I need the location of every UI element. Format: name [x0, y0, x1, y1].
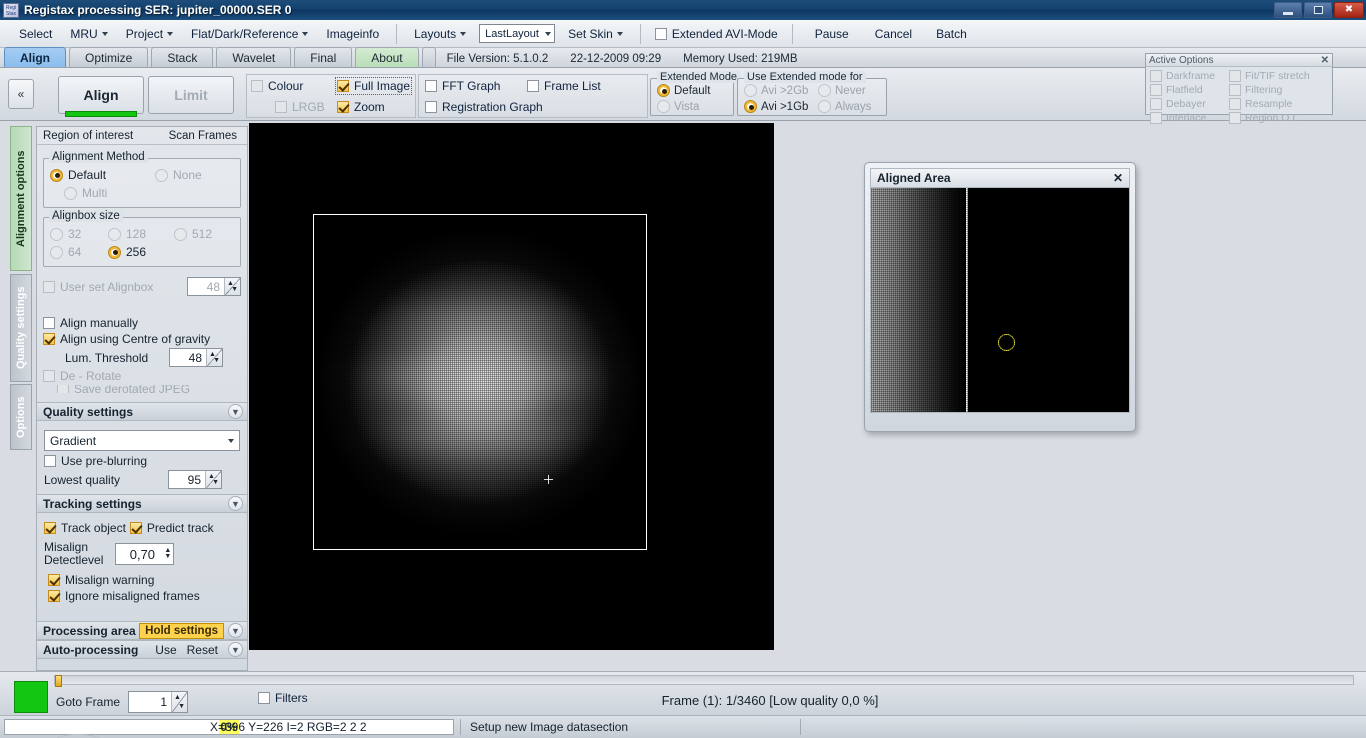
- avi-gt-1gb-radio[interactable]: Avi >1Gb: [744, 100, 808, 113]
- always-radio[interactable]: Always: [818, 100, 871, 113]
- radio-dot: [108, 228, 121, 241]
- tab-about[interactable]: About: [355, 47, 418, 67]
- hold-settings-badge[interactable]: Hold settings: [139, 623, 224, 639]
- checkbox-box: [44, 455, 56, 467]
- checkbox-box: [48, 590, 60, 602]
- misalign-detectlevel-spinner[interactable]: 0,70 ▲▼: [115, 543, 174, 565]
- fft-graph-checkbox[interactable]: FFT Graph: [425, 79, 500, 93]
- align-manually-checkbox[interactable]: Align manually: [43, 316, 241, 330]
- alignment-method-none-radio[interactable]: None: [155, 168, 202, 182]
- misalign-detectlevel-row: Misalign Detectlevel 0,70 ▲▼: [44, 541, 240, 567]
- chevron-down-icon: [167, 32, 173, 36]
- menu-imageinfo[interactable]: Imageinfo: [317, 23, 388, 45]
- date-label: 22-12-2009 09:29: [570, 53, 661, 65]
- misalign-detectlevel-label: Misalign Detectlevel: [44, 541, 103, 567]
- chevron-down-icon: [102, 32, 108, 36]
- menu-set-skin[interactable]: Set Skin: [559, 23, 632, 45]
- centre-of-gravity-marker: [544, 475, 553, 484]
- lowest-quality-spinner[interactable]: 95 ▲▼: [168, 470, 222, 489]
- resample-checkbox[interactable]: Resample: [1229, 98, 1310, 110]
- aligned-area-title: Aligned Area: [877, 171, 951, 185]
- checkbox-box: [251, 80, 263, 92]
- vtab-quality-settings[interactable]: Quality settings: [10, 274, 32, 382]
- goto-frame-row: Goto Frame 1 ▲▼: [56, 691, 188, 713]
- checkbox-box: [1229, 98, 1241, 110]
- batch-button[interactable]: Batch: [924, 23, 979, 45]
- checkbox-box: [1150, 84, 1162, 96]
- ignore-misaligned-frames-checkbox[interactable]: Ignore misaligned frames: [44, 589, 240, 603]
- radio-dot: [108, 246, 121, 259]
- extended-avi-mode-label: Extended AVI-Mode: [672, 27, 778, 41]
- menu-select[interactable]: Select: [10, 23, 61, 45]
- display-options-group: Colour Full Image LRGB Zoom: [246, 74, 416, 118]
- registration-graph-checkbox[interactable]: Registration Graph: [425, 100, 543, 114]
- radio-dot: [818, 100, 831, 113]
- extended-avi-mode-checkbox[interactable]: Extended AVI-Mode: [649, 27, 784, 41]
- chevron-down-icon: [545, 32, 551, 36]
- status-indicator-square: [14, 681, 48, 713]
- checkbox-box: [130, 522, 142, 534]
- region-oi-checkbox[interactable]: Region.O.I.: [1229, 112, 1310, 124]
- tab-stack[interactable]: Stack: [151, 47, 213, 67]
- use-extended-mode-for-group: Use Extended mode for Avi >2Gb Never Avi…: [737, 78, 887, 116]
- aligned-area-window[interactable]: Aligned Area ✕: [864, 162, 1136, 432]
- checkbox-box: [48, 574, 60, 586]
- chevron-down-icon[interactable]: ▼: [228, 623, 243, 638]
- alignbox-32-radio[interactable]: 32: [50, 227, 108, 241]
- checkbox-box: [57, 385, 69, 393]
- lum-threshold-spinner[interactable]: 48 ▲▼: [169, 348, 223, 367]
- checkbox-box: [655, 28, 667, 40]
- checkbox-box: [1150, 70, 1162, 82]
- aligned-area-titlebar: Aligned Area ✕: [870, 168, 1130, 187]
- alignbox-circle-marker: [998, 334, 1015, 351]
- chevron-down-icon: [228, 439, 234, 443]
- active-options-left-column: Darkframe Flatfield Debayer Interlace: [1150, 70, 1215, 124]
- alignbox-128-radio[interactable]: 128: [108, 227, 174, 241]
- radio-dot: [64, 187, 77, 200]
- lowest-quality-row: Lowest quality 95 ▲▼: [44, 470, 240, 489]
- tab-align[interactable]: Align: [4, 47, 66, 67]
- never-radio[interactable]: Never: [818, 84, 866, 97]
- checkbox-box: [425, 80, 437, 92]
- auto-processing-header[interactable]: Auto-processing Use Reset ▼: [37, 640, 247, 659]
- status-divider: [800, 719, 801, 735]
- file-version-label: File Version: 5.1.0.2: [447, 53, 549, 65]
- menu-mru[interactable]: MRU: [61, 23, 116, 45]
- checkbox-box: [43, 333, 55, 345]
- chevron-down-icon[interactable]: ▼: [228, 642, 243, 657]
- tracking-settings-header[interactable]: Tracking settings ▼: [37, 494, 247, 513]
- window-title: Registax processing SER: jupiter_00000.S…: [24, 3, 291, 17]
- radio-dot: [818, 84, 831, 97]
- layout-combo[interactable]: LastLayout: [479, 24, 555, 43]
- tab-final[interactable]: Final: [294, 47, 352, 67]
- window-controls: ✖: [1274, 2, 1364, 18]
- radio-dot: [744, 84, 757, 97]
- window-titlebar: RegiStax Registax processing SER: jupite…: [0, 0, 1366, 20]
- radio-dot: [50, 246, 63, 259]
- active-options-titlebar: Active Options ✕: [1146, 54, 1332, 67]
- alignment-method-default-radio[interactable]: Default: [50, 168, 155, 182]
- aligned-area-body[interactable]: [870, 187, 1130, 413]
- goto-frame-spinner[interactable]: 1 ▲▼: [128, 691, 188, 713]
- lrgb-checkbox[interactable]: LRGB: [275, 100, 325, 114]
- extended-mode-group: Extended Mode Default Vista: [650, 78, 734, 116]
- vtab-options[interactable]: Options: [10, 384, 32, 450]
- chevron-down-icon: [617, 32, 623, 36]
- interlace-checkbox[interactable]: Interlace: [1150, 112, 1215, 124]
- frame-slider[interactable]: [54, 675, 1354, 685]
- extended-mode-legend: Extended Mode: [657, 71, 740, 83]
- active-options-right-column: Fit/TIF stretch Filtering Resample Regio…: [1229, 70, 1310, 124]
- cancel-button[interactable]: Cancel: [863, 23, 924, 45]
- alignbox-size-group: Alignbox size 32 128 512: [43, 217, 241, 267]
- limit-button[interactable]: Limit: [148, 76, 234, 114]
- lum-threshold-value: 48: [170, 349, 206, 366]
- checkbox-box: [337, 80, 349, 92]
- alignbox-64-radio[interactable]: 64: [50, 245, 108, 259]
- checkbox-box: [1229, 112, 1241, 124]
- jupiter-bands: [330, 237, 630, 527]
- layout-combo-value: LastLayout: [485, 28, 539, 40]
- lum-threshold-label: Lum. Threshold: [65, 351, 148, 365]
- align-button[interactable]: Align: [58, 76, 144, 114]
- menu-divider: [396, 24, 397, 44]
- graph-options-group: FFT Graph Frame List Registration Graph: [418, 74, 648, 118]
- misalign-warning-checkbox[interactable]: Misalign warning: [44, 573, 240, 587]
- radio-dot: [174, 228, 187, 241]
- checkbox-box: [1150, 98, 1162, 110]
- misalign-detectlevel-value: 0,70: [122, 547, 162, 562]
- panel-body: Alignment Method Default None Multi: [37, 145, 247, 399]
- checkbox-box: [1150, 112, 1162, 124]
- status-hint-label: Setup new Image datasection: [470, 720, 628, 734]
- maximize-icon[interactable]: [1304, 2, 1332, 18]
- minimize-icon[interactable]: [1274, 2, 1302, 18]
- close-icon[interactable]: ✕: [1113, 171, 1123, 185]
- checkbox-box: [275, 101, 287, 113]
- active-options-panel: Active Options ✕ Darkframe Flatfield Deb…: [1145, 53, 1333, 115]
- alignment-method-legend: Alignment Method: [49, 151, 148, 163]
- auto-processing-use-button[interactable]: Use: [155, 643, 176, 657]
- spinner-arrows[interactable]: ▲▼: [224, 278, 240, 295]
- frame-status-label: Frame (1): 1/3460 [Low quality 0,0 %]: [460, 693, 1080, 708]
- flatfield-checkbox[interactable]: Flatfield: [1150, 84, 1215, 96]
- avi-gt-2gb-radio[interactable]: Avi >2Gb: [744, 84, 808, 97]
- use-pre-blurring-checkbox[interactable]: Use pre-blurring: [44, 454, 240, 468]
- active-options-title: Active Options: [1149, 54, 1213, 67]
- image-frame[interactable]: [313, 214, 647, 550]
- quality-settings-header[interactable]: Quality settings ▼: [37, 402, 247, 421]
- radio-dot: [50, 169, 63, 182]
- user-set-alignbox-checkbox[interactable]: User set Alignbox: [43, 280, 153, 294]
- radio-dot: [657, 84, 670, 97]
- extended-mode-default-radio[interactable]: Default: [657, 84, 710, 97]
- filters-checkbox[interactable]: Filters: [258, 691, 308, 705]
- checkbox-box: [425, 101, 437, 113]
- spinner-arrows[interactable]: ▲▼: [171, 692, 187, 712]
- darkframe-checkbox[interactable]: Darkframe: [1150, 70, 1215, 82]
- tracking-settings-body: Track object Predict track Misalign Dete…: [37, 513, 247, 609]
- quality-settings-body: Gradient Use pre-blurring Lowest quality…: [37, 421, 247, 494]
- checkbox-box: [1229, 70, 1241, 82]
- tab-optimize[interactable]: Optimize: [69, 47, 148, 67]
- alignment-method-multi-radio[interactable]: Multi: [50, 186, 234, 200]
- close-icon[interactable]: ✕: [1321, 54, 1332, 67]
- vertical-tabs: Alignment options Quality settings Optio…: [10, 126, 36, 546]
- frame-list-checkbox[interactable]: Frame List: [527, 79, 601, 93]
- goto-frame-value: 1: [129, 692, 171, 712]
- radio-dot: [155, 169, 168, 182]
- zoom-checkbox[interactable]: Zoom: [337, 100, 385, 114]
- radio-dot: [744, 100, 757, 113]
- aligned-area-gradient: [871, 188, 966, 412]
- predict-track-checkbox[interactable]: Predict track: [130, 521, 214, 535]
- checkbox-box: [43, 370, 55, 382]
- alignbox-256-radio[interactable]: 256: [108, 245, 146, 259]
- debayer-checkbox[interactable]: Debayer: [1150, 98, 1215, 110]
- goto-frame-label: Goto Frame: [56, 695, 120, 709]
- vtab-alignment-options[interactable]: Alignment options: [10, 126, 32, 271]
- user-set-alignbox-spinner[interactable]: 48 ▲▼: [187, 277, 241, 296]
- chevron-down-icon: [302, 32, 308, 36]
- pause-button[interactable]: Pause: [801, 23, 863, 45]
- radio-dot: [50, 228, 63, 241]
- checkbox-box: [527, 80, 539, 92]
- checkbox-box: [258, 692, 270, 704]
- chevron-down-icon[interactable]: ▼: [228, 496, 243, 511]
- colour-checkbox[interactable]: Colour: [251, 79, 303, 93]
- tab-spacer: [422, 47, 436, 67]
- checkbox-box: [44, 522, 56, 534]
- align-progress-indicator: [65, 111, 137, 117]
- scan-frames-button[interactable]: Scan Frames: [169, 130, 237, 142]
- extended-mode-vista-radio[interactable]: Vista: [657, 100, 699, 113]
- tabstrip-info: File Version: 5.1.0.2 22-12-2009 09:29 M…: [447, 53, 798, 67]
- use-extended-mode-legend: Use Extended mode for: [744, 71, 866, 83]
- alignbox-512-radio[interactable]: 512: [174, 227, 212, 241]
- menu-layouts[interactable]: Layouts: [405, 23, 475, 45]
- filtering-checkbox[interactable]: Filtering: [1229, 84, 1310, 96]
- spinner-arrows[interactable]: ▲▼: [206, 349, 222, 366]
- panel-header-row: Region of interest Scan Frames: [37, 127, 247, 145]
- main-menubar: Select MRU Project Flat/Dark/Reference I…: [0, 20, 1366, 48]
- spinner-arrows[interactable]: ▲▼: [205, 471, 221, 488]
- checkbox-box: [43, 317, 55, 329]
- lowest-quality-label: Lowest quality: [44, 473, 120, 487]
- quality-method-select[interactable]: Gradient: [44, 430, 240, 451]
- alignbox-size-legend: Alignbox size: [49, 210, 123, 222]
- radio-dot: [657, 100, 670, 113]
- track-object-checkbox[interactable]: Track object: [44, 521, 126, 535]
- menu-flat-dark-reference[interactable]: Flat/Dark/Reference: [182, 23, 317, 45]
- save-derotated-jpeg-checkbox[interactable]: Save derotated JPEG: [43, 385, 241, 393]
- collapse-panel-button[interactable]: «: [8, 79, 34, 109]
- user-set-alignbox-row: User set Alignbox 48 ▲▼: [43, 277, 241, 296]
- align-centre-of-gravity-checkbox[interactable]: Align using Centre of gravity: [43, 332, 241, 346]
- user-set-alignbox-value: 48: [188, 278, 224, 295]
- registax-logo-icon: RegiStax: [3, 3, 19, 18]
- tab-wavelet[interactable]: Wavelet: [216, 47, 291, 67]
- active-options-body: Darkframe Flatfield Debayer Interlace Fi…: [1146, 67, 1332, 127]
- cursor-info-label: X=396 Y=226 I=2 RGB=2 2 2: [210, 720, 367, 734]
- alignment-method-group: Alignment Method Default None Multi: [43, 158, 241, 208]
- menu-divider: [792, 24, 793, 44]
- chevron-down-icon: [460, 32, 466, 36]
- spinner-arrows[interactable]: ▲▼: [164, 548, 171, 560]
- frame-slider-thumb[interactable]: [55, 675, 62, 687]
- quality-method-value: Gradient: [50, 434, 96, 448]
- checkbox-box: [43, 281, 55, 293]
- status-divider: [460, 719, 461, 735]
- memory-used-label: Memory Used: 219MB: [683, 53, 797, 65]
- auto-processing-reset-button[interactable]: Reset: [187, 643, 218, 657]
- image-canvas[interactable]: [249, 123, 774, 650]
- fit-tif-stretch-checkbox[interactable]: Fit/TIF stretch: [1229, 70, 1310, 82]
- checkbox-box: [1229, 84, 1241, 96]
- checkbox-box: [337, 101, 349, 113]
- menu-project[interactable]: Project: [117, 23, 182, 45]
- de-rotate-checkbox[interactable]: De - Rotate: [43, 369, 241, 383]
- close-icon[interactable]: ✖: [1334, 2, 1364, 18]
- full-image-checkbox[interactable]: Full Image: [337, 79, 410, 93]
- menu-divider: [640, 24, 641, 44]
- alignment-options-panel: Region of interest Scan Frames Alignment…: [36, 126, 248, 671]
- aligned-area-divider: [966, 188, 968, 412]
- lum-threshold-row: Lum. Threshold 48 ▲▼: [43, 348, 241, 367]
- region-of-interest-button[interactable]: Region of interest: [43, 130, 133, 142]
- lowest-quality-value: 95: [169, 471, 205, 488]
- processing-area-header[interactable]: Processing area Hold settings ▼: [37, 621, 247, 640]
- chevron-down-icon[interactable]: ▼: [228, 404, 243, 419]
